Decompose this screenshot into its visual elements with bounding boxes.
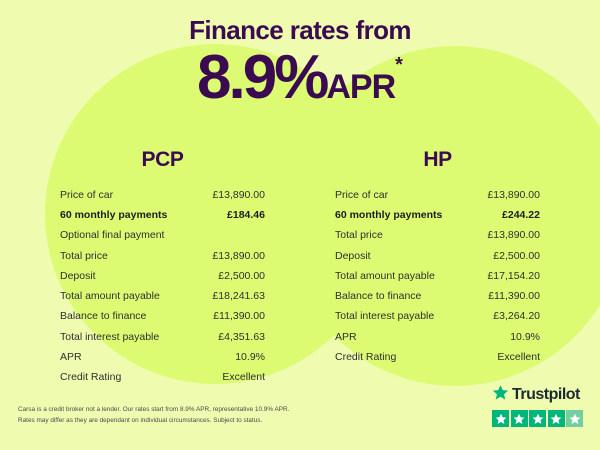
row-value: 10.9% xyxy=(510,331,540,344)
trustpilot-badge[interactable]: Trustpilot xyxy=(492,384,586,427)
table-row: APR 10.9% xyxy=(60,348,265,368)
table-row: Deposit £2,500.00 xyxy=(335,246,540,266)
table-row: APR 10.9% xyxy=(335,327,540,347)
row-value: £2,500.00 xyxy=(493,250,540,263)
row-value: £2,500.00 xyxy=(218,270,265,283)
row-label: Deposit xyxy=(335,250,371,263)
disclaimer-line-1: Carsa is a credit broker not a lender. O… xyxy=(18,404,348,415)
rating-star-3 xyxy=(529,410,546,427)
row-value: Excellent xyxy=(222,371,265,384)
trustpilot-wordmark: Trustpilot xyxy=(492,384,586,406)
rate-apr-label: APR xyxy=(326,70,395,104)
row-value: £11,390.00 xyxy=(488,290,540,303)
trustpilot-name: Trustpilot xyxy=(512,387,580,403)
row-label: Total amount payable xyxy=(335,270,435,283)
table-row: Total price £13,890.00 xyxy=(335,226,540,246)
finance-column-hp: HP Price of car £13,890.00 60 monthly pa… xyxy=(335,148,540,388)
row-value: 10.9% xyxy=(235,351,265,364)
row-label: Total amount payable xyxy=(60,290,160,303)
row-label: 60 monthly payments xyxy=(335,209,442,222)
table-row: Total interest payable £3,264.20 xyxy=(335,307,540,327)
row-value: £13,890.00 xyxy=(487,229,540,242)
row-label: APR xyxy=(335,331,357,344)
row-value: Excellent xyxy=(497,351,540,364)
promo-card: Finance rates from 8.9% APR * PCP Price … xyxy=(0,0,600,450)
table-row: Price of car £13,890.00 xyxy=(335,185,540,205)
row-label: 60 monthly payments xyxy=(60,209,167,222)
table-row: Credit Rating Excellent xyxy=(335,348,540,368)
pcp-rows: Price of car £13,890.00 60 monthly payme… xyxy=(60,185,265,388)
table-row: 60 monthly payments £184.46 xyxy=(60,205,265,225)
finance-column-pcp: PCP Price of car £13,890.00 60 monthly p… xyxy=(60,148,265,388)
row-value: £18,241.63 xyxy=(212,290,265,303)
row-label: Balance to finance xyxy=(60,310,146,323)
table-row: Total amount payable £17,154.20 xyxy=(335,266,540,286)
row-value: £11,390.00 xyxy=(213,310,265,323)
table-row: Balance to finance £11,390.00 xyxy=(60,307,265,327)
row-label: Credit Rating xyxy=(335,351,396,364)
table-row: Price of car £13,890.00 xyxy=(60,185,265,205)
row-value: £13,890.00 xyxy=(212,250,265,263)
row-value: £13,890.00 xyxy=(487,189,540,202)
row-label: Optional final payment xyxy=(60,229,164,242)
row-value: £3,264.20 xyxy=(493,310,540,323)
hp-rows: Price of car £13,890.00 60 monthly payme… xyxy=(335,185,540,368)
legal-disclaimer: Carsa is a credit broker not a lender. O… xyxy=(18,404,348,426)
disclaimer-line-2: Rates may differ as they are dependant o… xyxy=(18,415,348,426)
table-row: 60 monthly payments £244.22 xyxy=(335,205,540,225)
row-value: £13,890.00 xyxy=(212,189,265,202)
row-label: Total price xyxy=(60,250,108,263)
trustpilot-rating-stars xyxy=(492,410,586,427)
row-label: Price of car xyxy=(335,189,388,202)
column-title-pcp: PCP xyxy=(60,148,265,172)
column-title-hp: HP xyxy=(335,148,540,172)
row-value: £17,154.20 xyxy=(487,270,540,283)
row-label: Total price xyxy=(335,229,383,242)
table-row: Optional final payment xyxy=(60,226,265,246)
row-label: Balance to finance xyxy=(335,290,421,303)
rating-star-5 xyxy=(566,410,583,427)
row-label: Deposit xyxy=(60,270,96,283)
row-label: Total interest payable xyxy=(335,310,434,323)
headline-rate: 8.9% APR * xyxy=(0,47,600,109)
table-row: Credit Rating Excellent xyxy=(60,368,265,388)
table-row: Balance to finance £11,390.00 xyxy=(335,287,540,307)
table-row: Total amount payable £18,241.63 xyxy=(60,287,265,307)
rating-star-2 xyxy=(511,410,528,427)
rating-star-4 xyxy=(548,410,565,427)
row-value: £4,351.63 xyxy=(218,331,265,344)
rate-asterisk: * xyxy=(395,55,403,75)
table-row: Deposit £2,500.00 xyxy=(60,266,265,286)
rating-star-1 xyxy=(492,410,509,427)
row-label: Credit Rating xyxy=(60,371,121,384)
row-label: Price of car xyxy=(60,189,113,202)
row-value: £184.46 xyxy=(227,209,265,222)
row-label: APR xyxy=(60,351,82,364)
page-title: Finance rates from xyxy=(0,16,600,45)
trustpilot-star-icon xyxy=(492,384,509,406)
finance-comparison: PCP Price of car £13,890.00 60 monthly p… xyxy=(0,148,600,388)
row-value: £244.22 xyxy=(502,209,540,222)
table-row: Total interest payable £4,351.63 xyxy=(60,327,265,347)
header: Finance rates from 8.9% APR * xyxy=(0,16,600,109)
rate-percentage: 8.9% xyxy=(197,47,326,109)
row-label: Total interest payable xyxy=(60,331,159,344)
table-row: Total price £13,890.00 xyxy=(60,246,265,266)
